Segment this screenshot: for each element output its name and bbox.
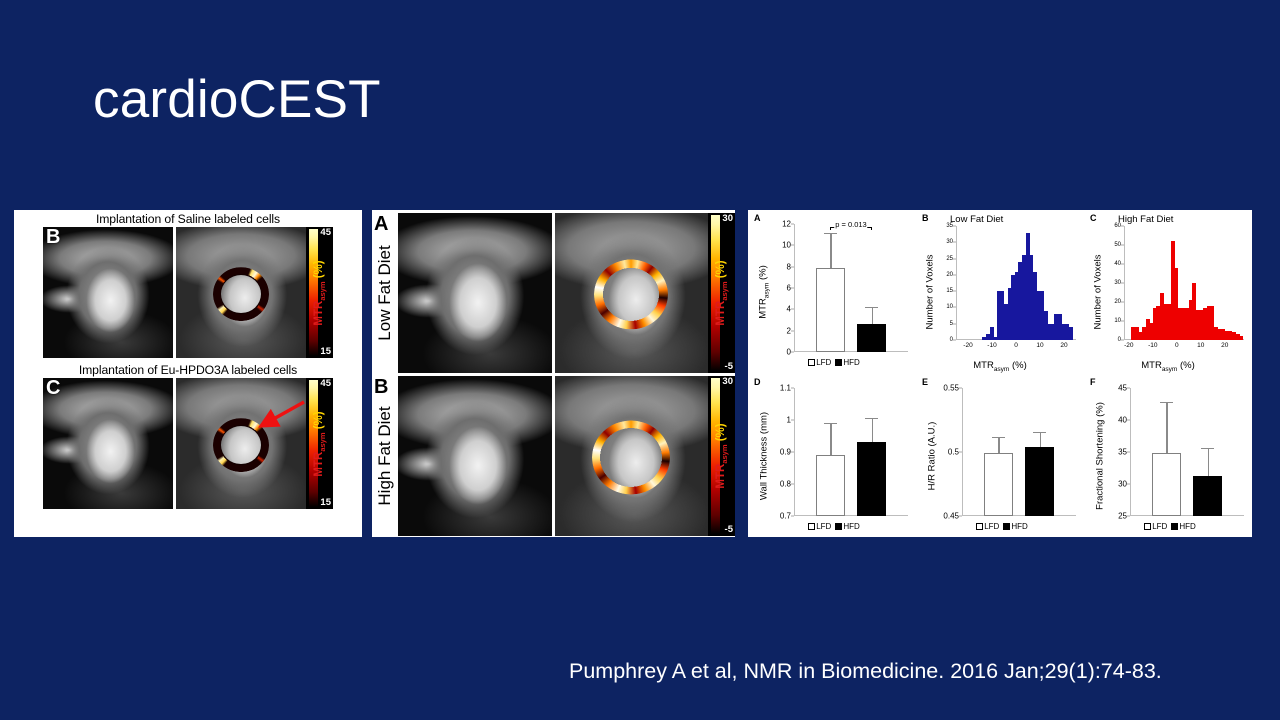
y-tick-label: 1	[787, 415, 794, 424]
colorbar-max-label: 30	[722, 377, 733, 387]
chart-plot-area: 0.70.80.911.1	[794, 388, 908, 516]
chart-bar	[1152, 453, 1182, 515]
chart-d-wall-thickness-bar: D0.70.80.911.1Wall Thickness (mm)LFDHFD	[748, 374, 916, 538]
chart-inner-title: Low Fat Diet	[950, 214, 1003, 225]
y-tick-label: 35	[1118, 447, 1130, 456]
panel-c-letter: C	[46, 378, 60, 398]
panel-a-anatomical-mri	[398, 213, 552, 373]
y-tick-label: 0.8	[780, 479, 794, 488]
error-bar	[830, 233, 831, 268]
y-tick-label: 40	[1114, 261, 1124, 267]
page-title: cardioCEST	[93, 73, 381, 126]
cest-heatmap-ring	[592, 420, 670, 494]
chart-ylabel: H/R Ratio (A.U.)	[927, 421, 938, 490]
y-tick-label: 50	[1114, 242, 1124, 248]
colorbar-title: MTRasym (%)	[714, 423, 728, 488]
x-tick-label: 20	[1221, 342, 1228, 349]
error-bar-cap	[865, 418, 878, 419]
error-bar-cap	[865, 307, 878, 308]
colorbar-title-sub: asym	[720, 444, 729, 463]
y-tick-label: 0.5	[948, 447, 962, 456]
cest-heatmap-ring	[213, 267, 269, 321]
colorbar-title-unit: (%)	[714, 260, 726, 281]
panel-c-cest-overlay-mri	[176, 378, 306, 509]
panel-b-anatomical-mri: B	[43, 227, 173, 358]
mri-tissue-greyscale	[43, 378, 173, 509]
y-tick-label: 30	[1114, 280, 1124, 286]
chart-plot-area: 2530354045	[1130, 388, 1244, 516]
colorbar-max-label: 30	[722, 214, 733, 224]
x-axis-line	[1130, 515, 1244, 516]
cest-heatmap-ring	[213, 418, 269, 472]
panel-c-image-row: C 45 15 MTRasym (%)	[43, 378, 333, 509]
colorbar-panel-c: 45 15 MTRasym (%)	[306, 378, 333, 509]
chart-ylabel: MTRasym (%)	[758, 265, 771, 319]
y-tick-label: 15	[946, 288, 956, 294]
colorbar-panel-b: 45 15 MTRasym (%)	[306, 227, 333, 358]
chart-grid: A024681012p = 0.013MTRasym (%)LFDHFD B05…	[748, 210, 1252, 537]
chart-inner-title: High Fat Diet	[1118, 214, 1173, 225]
y-axis-line	[794, 388, 795, 516]
panel-b-row: B High Fat Diet 30 -5 MTRasym (%)	[372, 376, 735, 536]
colorbar-title-sub: asym	[318, 281, 327, 300]
colorbar-title-sub: asym	[720, 281, 729, 300]
y-axis-line	[962, 388, 963, 516]
colorbar-title-main: MTR	[312, 451, 324, 476]
error-bar	[872, 307, 873, 324]
chart-plot-area: 024681012p = 0.013	[794, 224, 908, 352]
panel-b-side-label: High Fat Diet	[375, 406, 395, 505]
x-tick-label: -20	[963, 342, 972, 349]
error-bar-cap	[1201, 448, 1214, 449]
error-bar-cap	[992, 437, 1005, 438]
panel-a-side-label-wrap: A Low Fat Diet	[372, 213, 398, 373]
chart-ylabel: Number of Voxels	[925, 255, 936, 330]
error-bar	[1166, 402, 1167, 454]
colorbar-title: MTRasym (%)	[312, 411, 326, 476]
y-tick-label: 0.7	[780, 511, 794, 520]
chart-bar	[816, 455, 846, 516]
figure-mid-diet-comparison: A Low Fat Diet 30 -5 MTRasym (%) B High …	[372, 210, 735, 537]
chart-a-mtrasym-bar: A024681012p = 0.013MTRasym (%)LFDHFD	[748, 210, 916, 374]
citation-text: Pumphrey A et al, NMR in Biomedicine. 20…	[569, 659, 1162, 684]
chart-plot-area: 0.450.50.55	[962, 388, 1076, 516]
y-tick-label: 8	[787, 262, 794, 271]
y-tick-label: 0	[950, 337, 956, 343]
error-bar	[1208, 448, 1209, 477]
x-axis-line	[794, 515, 908, 516]
y-tick-label: 10	[946, 304, 956, 310]
error-bar-cap	[824, 423, 837, 424]
error-bar-cap	[824, 233, 837, 234]
colorbar-min-label: 15	[320, 498, 331, 508]
panel-b-letter: B	[46, 227, 60, 247]
y-tick-label: 5	[950, 321, 956, 327]
chart-ylabel-wrap: MTRasym (%)	[756, 210, 772, 374]
chart-f-fractional-shortening-bar: F2530354045Fractional Shortening (%)LFDH…	[1084, 374, 1252, 538]
colorbar-max-label: 45	[320, 379, 331, 389]
colorbar-panel-b-diet: 30 -5 MTRasym (%)	[708, 376, 735, 536]
y-axis-line	[794, 224, 795, 352]
error-bar	[1040, 432, 1041, 447]
panel-a-side-label: Low Fat Diet	[375, 245, 395, 340]
colorbar-title-unit: (%)	[312, 260, 324, 281]
y-tick-label: 1.1	[780, 383, 794, 392]
y-tick-label: 0.55	[943, 383, 962, 392]
chart-plot-area: 0102030405060-20-1001020	[1124, 226, 1244, 340]
chart-xlabel: MTRasym (%)	[916, 360, 1084, 373]
error-bar	[830, 423, 831, 455]
colorbar-title-main: MTR	[312, 300, 324, 325]
y-tick-label: 2	[787, 326, 794, 335]
panel-c-caption: Implantation of Eu-HPDO3A labeled cells	[14, 363, 362, 378]
chart-bar	[857, 324, 887, 352]
y-tick-label: 12	[782, 220, 794, 229]
figure-left-cell-implantation: Implantation of Saline labeled cells B 4…	[14, 210, 362, 537]
chart-bar	[1025, 447, 1055, 515]
y-tick-label: 20	[946, 272, 956, 278]
x-tick-label: 0	[1175, 342, 1179, 349]
colorbar-min-label: -5	[725, 362, 733, 372]
y-tick-label: 25	[946, 256, 956, 262]
panel-b-side-label-wrap: B High Fat Diet	[372, 376, 398, 536]
y-tick-label: 30	[946, 239, 956, 245]
colorbar-title-main: MTR	[714, 301, 726, 326]
chart-ylabel: Fractional Shortening (%)	[1095, 402, 1106, 510]
y-tick-label: 10	[782, 241, 794, 250]
chart-bar	[984, 453, 1014, 516]
panel-b-image-row: B 45 15 MTRasym (%)	[43, 227, 333, 358]
mri-tissue-greyscale	[43, 227, 173, 358]
panel-a-cest-overlay-mri	[555, 213, 709, 373]
colorbar-max-label: 45	[320, 228, 331, 238]
chart-ylabel: Number of Voxels	[1093, 255, 1104, 330]
x-tick-label: 20	[1060, 342, 1067, 349]
chart-legend: LFDHFD	[748, 358, 916, 367]
y-tick-label: 0	[787, 348, 794, 357]
colorbar-title: MTRasym (%)	[312, 260, 326, 325]
error-bar	[998, 437, 999, 453]
chart-e-hr-ratio-bar: E0.450.50.55H/R Ratio (A.U.)LFDHFD	[916, 374, 1084, 538]
y-tick-label: 40	[1118, 415, 1130, 424]
panel-c-anatomical-mri: C	[43, 378, 173, 509]
x-tick-label: -10	[987, 342, 996, 349]
cest-heatmap-ring	[594, 259, 668, 329]
y-tick-label: 0	[1118, 337, 1124, 343]
y-axis-line	[956, 226, 957, 340]
panel-b-cest-overlay-mri	[176, 227, 306, 358]
x-tick-label: -20	[1124, 342, 1133, 349]
y-tick-label: 45	[1118, 383, 1130, 392]
error-bar-cap	[1033, 432, 1046, 433]
colorbar-title: MTRasym (%)	[714, 260, 728, 325]
chart-ylabel-wrap: Fractional Shortening (%)	[1092, 374, 1108, 538]
panel-a-row: A Low Fat Diet 30 -5 MTRasym (%)	[372, 213, 735, 373]
mri-tissue-greyscale	[398, 213, 552, 373]
colorbar-min-label: 15	[320, 347, 331, 357]
chart-legend: LFDHFD	[748, 522, 916, 531]
chart-xlabel: MTRasym (%)	[1084, 360, 1252, 373]
colorbar-title-unit: (%)	[312, 411, 324, 432]
y-tick-label: 10	[1114, 318, 1124, 324]
colorbar-title-main: MTR	[714, 464, 726, 489]
chart-bar	[816, 268, 846, 352]
y-tick-label: 30	[1118, 479, 1130, 488]
chart-ylabel-wrap: Number of Voxels	[922, 210, 938, 374]
chart-legend: LFDHFD	[1084, 522, 1252, 531]
error-bar-cap	[1160, 402, 1173, 403]
x-tick-label: -10	[1148, 342, 1157, 349]
y-tick-label: 25	[1118, 511, 1130, 520]
y-tick-label: 20	[1114, 299, 1124, 305]
chart-ylabel-wrap: Number of Voxels	[1090, 210, 1106, 374]
panel-b-letter: B	[374, 377, 388, 397]
y-tick-label: 6	[787, 284, 794, 293]
colorbar-title-sub: asym	[318, 432, 327, 451]
chart-b-lfd-histogram: B05101520253035-20-1001020Number of Voxe…	[916, 210, 1084, 374]
colorbar-title-unit: (%)	[714, 423, 726, 444]
chart-ylabel: Wall Thickness (mm)	[759, 411, 770, 499]
x-tick-label: 10	[1197, 342, 1204, 349]
x-axis-line	[794, 351, 908, 352]
y-axis-line	[1124, 226, 1125, 340]
histogram-bar	[1069, 327, 1073, 340]
y-axis-line	[1130, 388, 1131, 516]
error-bar	[872, 418, 873, 442]
chart-legend: LFDHFD	[916, 522, 1084, 531]
y-tick-label: 0.9	[780, 447, 794, 456]
x-tick-label: 10	[1036, 342, 1043, 349]
panel-a-letter: A	[374, 214, 388, 234]
figure-right-quantitative-charts: A024681012p = 0.013MTRasym (%)LFDHFD B05…	[748, 210, 1252, 537]
histogram-bar	[1239, 336, 1243, 340]
colorbar-min-label: -5	[725, 525, 733, 535]
chart-ylabel-wrap: H/R Ratio (A.U.)	[924, 374, 940, 538]
chart-c-hfd-histogram: C0102030405060-20-1001020Number of Voxel…	[1084, 210, 1252, 374]
chart-bar	[857, 442, 887, 516]
y-tick-label: 4	[787, 305, 794, 314]
x-tick-label: 0	[1014, 342, 1018, 349]
y-tick-label: 0.45	[943, 511, 962, 520]
colorbar-panel-a: 30 -5 MTRasym (%)	[708, 213, 735, 373]
x-axis-line	[962, 515, 1076, 516]
chart-bar	[1193, 476, 1223, 515]
mri-tissue-greyscale	[398, 376, 552, 536]
panel-b-cest-overlay-mri	[555, 376, 709, 536]
panel-b-caption: Implantation of Saline labeled cells	[14, 212, 362, 227]
chart-plot-area: 05101520253035-20-1001020	[956, 226, 1076, 340]
chart-ylabel-wrap: Wall Thickness (mm)	[756, 374, 772, 538]
panel-b-anatomical-mri	[398, 376, 552, 536]
